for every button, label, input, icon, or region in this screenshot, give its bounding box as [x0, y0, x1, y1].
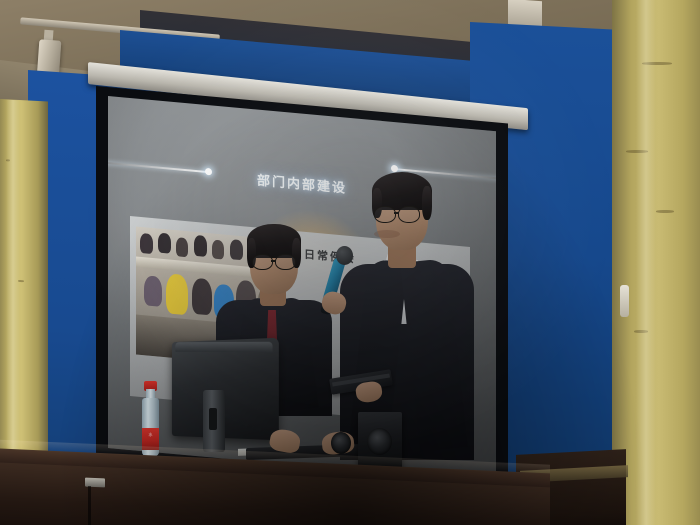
pillar-right	[612, 0, 700, 525]
monitor-stand-slot	[209, 408, 217, 430]
wall-fixture-icon	[620, 285, 629, 317]
operator-glasses-left-lens-icon	[252, 254, 273, 270]
microphone-head-icon	[336, 246, 353, 265]
operator-glasses-right-lens-icon	[275, 254, 296, 270]
presenter-glasses-left-lens-icon	[374, 206, 396, 223]
pillar-mark	[656, 210, 674, 213]
presenter-glasses-right-lens-icon	[398, 206, 420, 223]
speaker-driver-right-icon	[367, 428, 392, 455]
operator-left-hand	[268, 428, 301, 455]
bottle-label-text: 水	[143, 432, 158, 438]
operator-glasses-bridge	[271, 260, 276, 262]
pillar-right-highlight	[636, 0, 656, 525]
computer-monitor	[172, 338, 279, 441]
presenter-hair-side-right	[422, 186, 432, 220]
monitor-top-bevel	[175, 342, 272, 352]
podium-panel-seam	[88, 486, 91, 525]
presenter-glasses-bridge	[394, 212, 399, 214]
speaker-driver-left-icon	[331, 432, 351, 454]
presentation-scene: 部门内部建设 日常例会	[0, 0, 700, 525]
presenter-cheek-shadow	[374, 230, 400, 238]
